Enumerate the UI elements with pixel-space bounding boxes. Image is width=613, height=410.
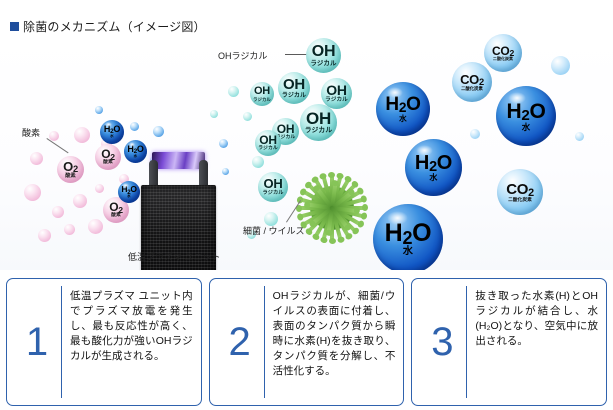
step-number-1: 1 xyxy=(13,286,62,398)
decorative-bubble-pink xyxy=(64,224,75,235)
decorative-bubble-pink xyxy=(30,152,43,165)
molecule-co2-formula: CO2 xyxy=(492,45,514,57)
plasma-discharge-glow xyxy=(152,152,205,169)
decorative-bubble-pink xyxy=(73,194,87,208)
molecule-oh: OH ラジカル xyxy=(300,104,337,141)
bacteria-virus-graphic xyxy=(276,152,388,264)
molecule-h2o: H2O 水 xyxy=(405,139,462,196)
molecule-co2: CO2 二酸化炭素 xyxy=(497,169,543,215)
decorative-bubble-teal xyxy=(228,86,239,97)
decorative-bubble-pink xyxy=(52,206,64,218)
molecule-h2o-label: 水 xyxy=(110,135,114,139)
molecule-h2o: H2O 水 xyxy=(496,86,556,146)
molecule-oh: OH ラジカル xyxy=(250,82,274,106)
step-panel-3: 3 抜き取った水素(H)とOHラジカルが結合し、水(H₂O)となり、空気中に放出… xyxy=(411,278,607,406)
molecule-oh-formula: OH xyxy=(259,134,276,146)
decorative-bubble-cyan xyxy=(551,56,570,75)
decorative-bubble-blue xyxy=(130,122,139,131)
molecule-oh-label: ラジカル xyxy=(305,128,333,135)
step-number-3: 3 xyxy=(418,286,467,398)
molecule-oh-formula: OH xyxy=(312,44,335,60)
illustration-stage: O2 酸素 O2 酸素 O2 酸素 酸素 H2O 水 H2O 水 H2O 水 xyxy=(0,34,613,270)
molecule-o2-formula: O2 xyxy=(101,148,115,160)
decorative-bubble-teal xyxy=(210,110,218,118)
molecule-o2: O2 酸素 xyxy=(95,144,121,170)
infographic-root: 除菌のメカニズム（イメージ図） O2 酸素 O2 酸素 O2 酸素 酸素 xyxy=(0,0,613,410)
step-text-1: 低温プラズマ ユニット内でプラズマ放電を発生し、最も反応性が高く、最も酸化力が強… xyxy=(62,286,195,398)
molecule-oh: OH ラジカル xyxy=(321,78,352,109)
molecule-o2-formula: O2 xyxy=(63,160,78,173)
molecule-oh-label: ラジカル xyxy=(253,98,271,102)
molecule-h2o-formula: H2O xyxy=(506,101,545,122)
molecule-h2o-formula: H2O xyxy=(121,185,136,194)
step-number-2: 2 xyxy=(216,286,265,398)
molecule-co2-formula: CO2 xyxy=(460,73,484,86)
decorative-bubble-pink xyxy=(38,229,51,242)
step-panel-2: 2 OHラジカルが、細菌/ウイルスの表面に付着し、表面のタンパク質から瞬時に水素… xyxy=(209,278,405,406)
molecule-h2o-small: H2O 水 xyxy=(100,120,124,144)
decorative-bubble-cyan xyxy=(470,129,480,139)
molecule-h2o-formula: H2O xyxy=(385,95,420,114)
molecule-co2: CO2 二酸化炭素 xyxy=(484,34,522,72)
decorative-bubble-teal xyxy=(252,156,264,168)
molecule-h2o-label: 水 xyxy=(134,155,138,159)
label-bacteria-virus: 細菌 / ウイルス xyxy=(243,224,305,237)
page-title-text: 除菌のメカニズム（イメージ図） xyxy=(23,18,206,35)
molecule-h2o-small: H2O 水 xyxy=(118,181,140,203)
square-bullet-icon xyxy=(10,22,19,31)
decorative-bubble-blue xyxy=(153,126,164,137)
molecule-co2-formula: CO2 xyxy=(506,182,534,197)
molecule-h2o-label: 水 xyxy=(522,123,531,131)
leader-line-oxygen xyxy=(46,138,68,153)
step-text-2: OHラジカルが、細菌/ウイルスの表面に付着し、表面のタンパク質から瞬時に水素(H… xyxy=(265,286,398,398)
molecule-h2o-label: 水 xyxy=(429,174,437,182)
molecule-o2-formula: O2 xyxy=(109,201,123,213)
molecule-h2o-formula: H2O xyxy=(415,153,452,173)
molecule-oh: OH ラジカル xyxy=(306,38,341,73)
decorative-bubble-blue xyxy=(222,168,229,175)
decorative-bubble-teal xyxy=(243,112,252,121)
molecule-h2o: H2O 水 xyxy=(376,82,430,136)
molecule-o2: O2 酸素 xyxy=(57,156,84,183)
molecule-h2o-label: 水 xyxy=(399,115,407,123)
molecule-oh-label: ラジカル xyxy=(282,93,306,99)
step-text-3: 抜き取った水素(H)とOHラジカルが結合し、水(H₂O)となり、空気中に放出され… xyxy=(467,286,600,398)
molecule-oh-formula: OH xyxy=(326,83,346,97)
molecule-oh-formula: OH xyxy=(277,123,294,135)
decorative-bubble-blue xyxy=(219,139,228,148)
molecule-oh: OH ラジカル xyxy=(278,72,310,104)
molecule-h2o: H2O 水 xyxy=(373,204,443,270)
molecule-oh-label: ラジカル xyxy=(325,98,348,104)
label-oxygen: 酸素 xyxy=(22,126,40,139)
step-panel-1: 1 低温プラズマ ユニット内でプラズマ放電を発生し、最も反応性が高く、最も酸化力… xyxy=(6,278,202,406)
decorative-bubble-pink xyxy=(95,184,104,193)
molecule-o2-label: 酸素 xyxy=(65,174,76,179)
decorative-bubble-pink xyxy=(74,127,90,143)
molecule-co2-label: 二酸化炭素 xyxy=(461,87,483,91)
decorative-bubble-pink xyxy=(24,184,41,201)
decorative-bubble-blue xyxy=(95,106,103,114)
molecule-oh-formula: OH xyxy=(283,77,305,92)
molecule-oh-label: ラジカル xyxy=(311,61,337,67)
molecule-h2o-formula: H2O xyxy=(385,221,432,246)
molecule-oh-formula: OH xyxy=(306,110,331,127)
molecule-h2o-formula: H2O xyxy=(104,125,120,134)
molecule-h2o-label: 水 xyxy=(403,247,413,257)
molecule-oh-label: ラジカル xyxy=(258,147,277,152)
decorative-bubble-pink xyxy=(88,219,103,234)
decorative-bubble-cyan xyxy=(575,132,584,141)
label-plasma-unit: 低温プラズマ ユニット xyxy=(128,250,220,263)
molecule-co2: CO2 二酸化炭素 xyxy=(452,62,492,102)
steps-container: 1 低温プラズマ ユニット内でプラズマ放電を発生し、最も反応性が高く、最も酸化力… xyxy=(0,278,613,406)
label-oh-radical: OHラジカル xyxy=(218,49,267,62)
page-title: 除菌のメカニズム（イメージ図） xyxy=(10,18,206,35)
molecule-oh-formula: OH xyxy=(254,86,270,97)
